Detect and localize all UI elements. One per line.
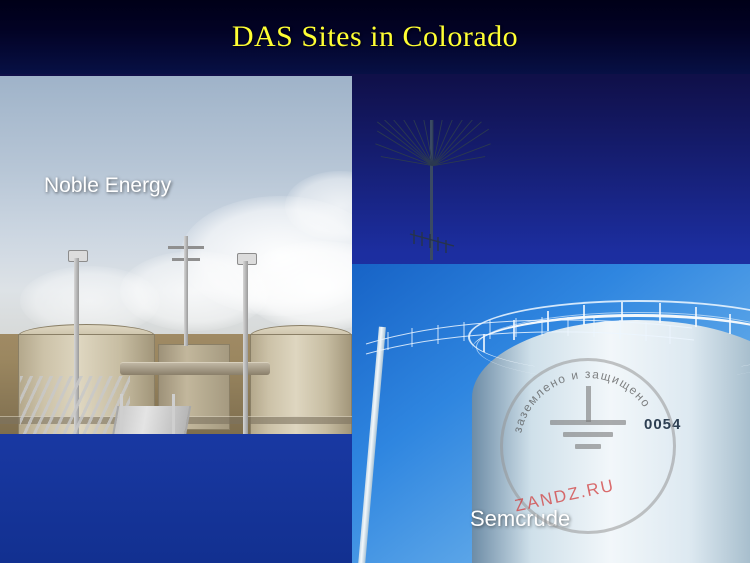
utility-pole [184, 236, 188, 346]
tank-number-label: 0054 [644, 416, 681, 433]
page-title: DAS Sites in Colorado [0, 20, 750, 54]
lightning-mast [243, 261, 248, 434]
semcrude-label: Semcrude [470, 506, 570, 532]
noble-energy-photo: Noble Energy [0, 76, 352, 434]
dissipation-grid [362, 310, 702, 380]
handrail [120, 394, 123, 434]
slide: DAS Sites in Colorado Noble Energy [0, 0, 750, 563]
handrail [172, 394, 175, 434]
semcrude-photo: 0054 Semcrude [352, 264, 750, 563]
noble-energy-label: Noble Energy [44, 174, 171, 198]
dissipation-array-icon [370, 120, 496, 184]
